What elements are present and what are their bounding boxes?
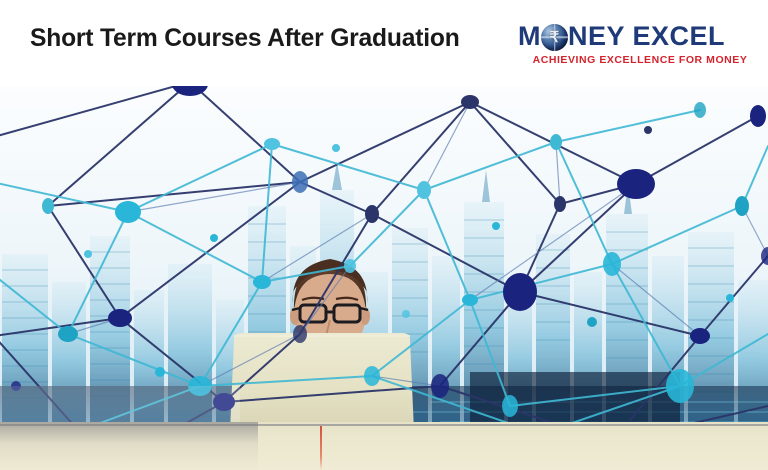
page-title: Short Term Courses After Graduation bbox=[30, 24, 460, 53]
logo-word-after-globe: NEY EXCEL bbox=[568, 21, 725, 52]
desk-shadow bbox=[0, 422, 258, 470]
rupee-icon: ₹ bbox=[541, 24, 568, 51]
money-excel-logo[interactable]: M₹NEY EXCEL ACHIEVING EXCELLENCE FOR MON… bbox=[518, 20, 754, 72]
network-city-illustration bbox=[0, 86, 768, 470]
logo-word-before-globe: M bbox=[518, 21, 541, 52]
logo-tagline: ACHIEVING EXCELLENCE FOR MONEY bbox=[526, 54, 754, 66]
globe-icon: ₹ bbox=[541, 24, 568, 51]
banner-image bbox=[0, 86, 768, 470]
logo-wordmark: M₹NEY EXCEL bbox=[518, 20, 725, 52]
page-header: Short Term Courses After Graduation M₹NE… bbox=[0, 0, 768, 86]
desk-accent-line bbox=[320, 426, 322, 470]
